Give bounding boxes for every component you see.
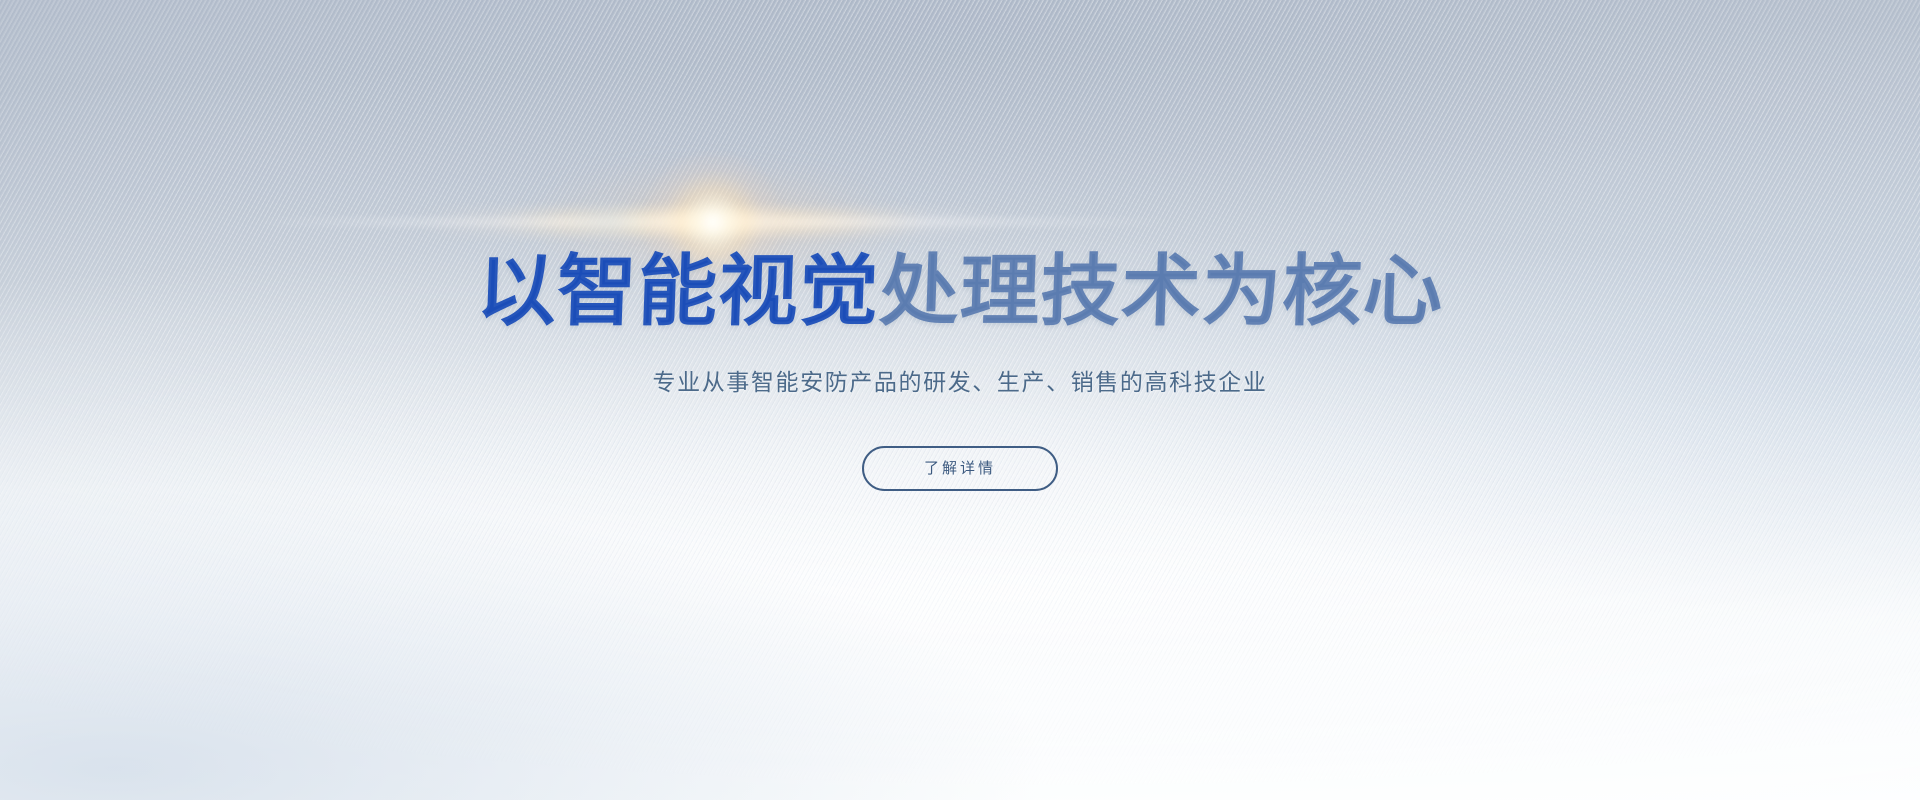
learn-more-button[interactable]: 了解详情 [862, 446, 1058, 491]
page-title: 以智能视觉处理技术为核心 [475, 252, 1445, 330]
headline-secondary: 处理技术为核心 [878, 247, 1445, 335]
headline-emphasis: 以智能视觉 [475, 247, 881, 335]
hero-banner: 以智能视觉处理技术为核心 专业从事智能安防产品的研发、生产、销售的高科技企业 了… [0, 0, 1920, 800]
page-subtitle: 专业从事智能安防产品的研发、生产、销售的高科技企业 [653, 368, 1268, 398]
banner-content: 以智能视觉处理技术为核心 专业从事智能安防产品的研发、生产、销售的高科技企业 了… [0, 0, 1920, 800]
